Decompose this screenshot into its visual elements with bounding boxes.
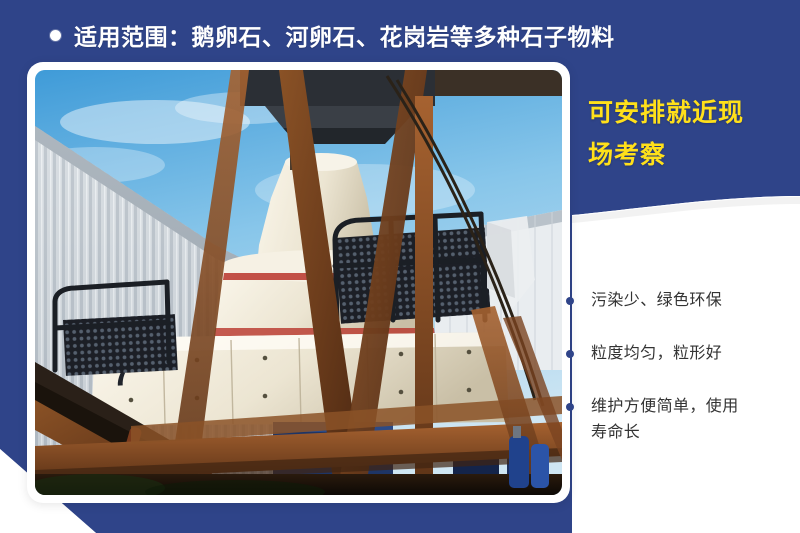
headline-line-1: 可安排就近现 <box>588 92 794 134</box>
feature-item: 粒度均匀，粒形好 <box>566 341 800 367</box>
feature-list: 污染少、绿色环保 粒度均匀，粒形好 维护方便简单，使用寿命长 <box>566 288 800 473</box>
feature-text: 污染少、绿色环保 <box>591 288 722 314</box>
promo-banner: 适用范围：鹅卵石、河卵石、花岗岩等多种石子物料 <box>0 0 800 533</box>
feature-text: 维护方便简单，使用寿命长 <box>591 394 739 446</box>
feature-item: 污染少、绿色环保 <box>566 288 800 314</box>
dot-bullet-icon <box>50 30 61 41</box>
header: 适用范围：鹅卵石、河卵石、花岗岩等多种石子物料 <box>0 14 800 56</box>
bullet-dot-icon <box>566 350 574 358</box>
headline: 可安排就近现 场考察 <box>588 92 794 176</box>
feature-item: 维护方便简单，使用寿命长 <box>566 394 800 446</box>
equipment-photo: 7 <box>35 70 562 495</box>
feature-text: 粒度均匀，粒形好 <box>591 341 722 367</box>
photo-card: 7 <box>27 62 570 503</box>
bullet-dot-icon <box>566 297 574 305</box>
bullet-dot-icon <box>566 403 574 411</box>
headline-line-2: 场考察 <box>588 134 794 176</box>
header-title: 适用范围：鹅卵石、河卵石、花岗岩等多种石子物料 <box>74 18 615 52</box>
